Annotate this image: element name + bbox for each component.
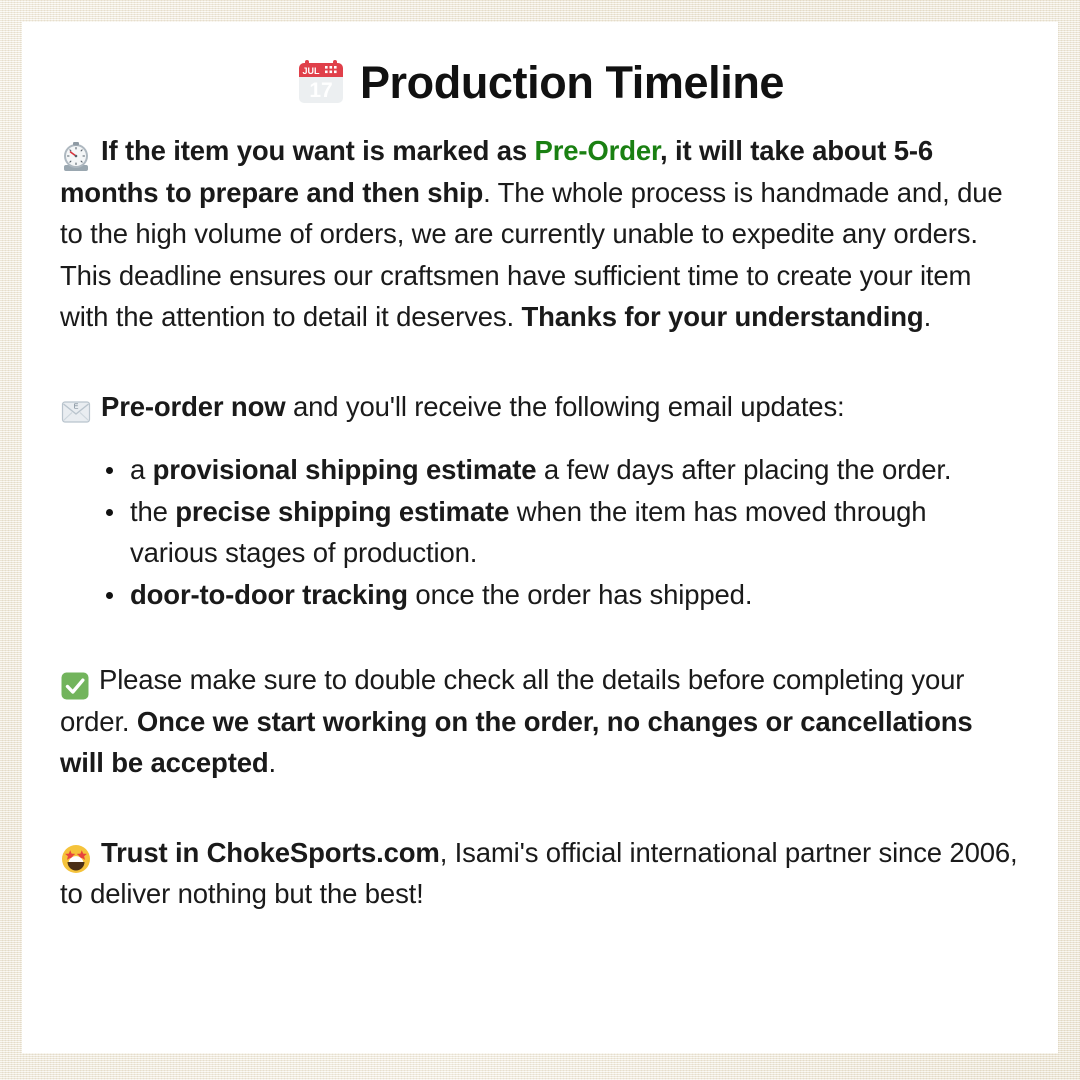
paragraph-5-bold: Trust in ChokeSports.com	[101, 837, 440, 868]
bullet-2-pre: the	[130, 496, 175, 527]
email-updates-list: a provisional shipping estimate a few da…	[38, 449, 1042, 615]
page-title: Production Timeline	[360, 58, 784, 108]
paragraph-2-body: and you'll receive the following email u…	[285, 391, 844, 422]
bullet-3-bold: door-to-door tracking	[130, 579, 408, 610]
paragraph-1-period: .	[924, 301, 932, 332]
list-item: door-to-door tracking once the order has…	[106, 574, 1020, 616]
page-header: JUL 17 Production Timeline	[38, 58, 1042, 108]
email-icon: E	[60, 396, 92, 428]
svg-text:JUL: JUL	[302, 66, 320, 76]
paragraph-1-bold-lead: If the item you want is marked as	[101, 135, 535, 166]
bullet-1-bold: provisional shipping estimate	[153, 454, 537, 485]
bullet-1-pre: a	[130, 454, 153, 485]
svg-text:17: 17	[309, 79, 332, 102]
pre-order-highlight: Pre-Order	[535, 135, 661, 166]
paragraph-email-updates-intro: E Pre-order now and you'll receive the f…	[38, 386, 1042, 428]
paragraph-1-bold-tail: Thanks for your understanding	[521, 301, 923, 332]
paragraph-trust-chokesports: Trust in ChokeSports.com, Isami's offici…	[38, 832, 1042, 915]
content-card: JUL 17 Production Timeline	[22, 22, 1058, 1053]
stopwatch-icon	[60, 141, 92, 173]
calendar-icon: JUL 17	[296, 58, 346, 108]
svg-text:E: E	[74, 404, 79, 411]
star-struck-icon	[60, 843, 92, 875]
paragraph-4-bold: Once we start working on the order, no c…	[60, 706, 973, 779]
paragraph-double-check-details: Please make sure to double check all the…	[38, 659, 1042, 784]
bullet-1-post: a few days after placing the order.	[536, 454, 951, 485]
paragraph-4-period: .	[269, 747, 277, 778]
bullet-2-bold: precise shipping estimate	[175, 496, 509, 527]
paragraph-pre-order-timeline: If the item you want is marked as Pre-Or…	[38, 130, 1042, 338]
check-mark-button-icon	[60, 671, 90, 701]
list-item: a provisional shipping estimate a few da…	[106, 449, 1020, 491]
paragraph-2-bold-lead: Pre-order now	[101, 391, 285, 422]
bullet-3-post: once the order has shipped.	[408, 579, 752, 610]
list-item: the precise shipping estimate when the i…	[106, 491, 1020, 574]
